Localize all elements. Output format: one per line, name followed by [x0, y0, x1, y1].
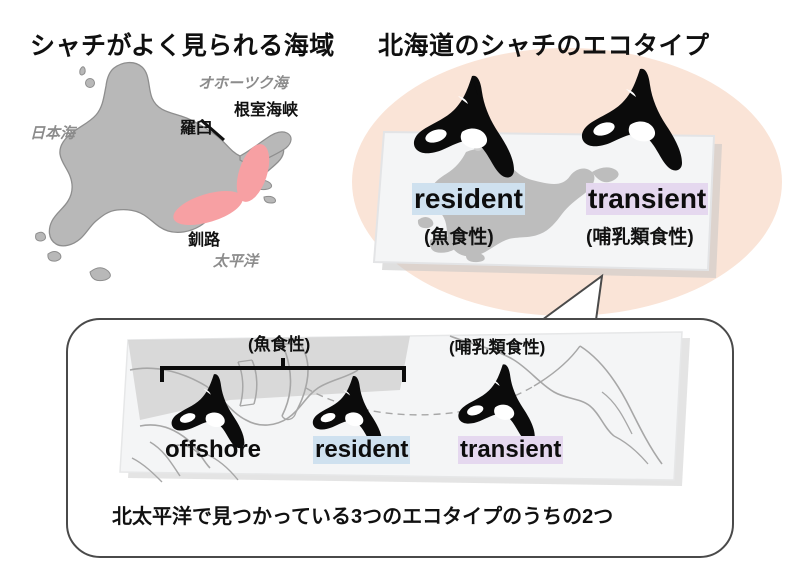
ecotype-diet-transient: (哺乳類食性) [586, 222, 694, 249]
orca-icon [410, 70, 540, 180]
ecotype-diet-resident: (魚食性) [424, 222, 494, 249]
bracket-label-mammal-eating: (哺乳類食性) [449, 333, 545, 358]
map-label-sea-of-okhotsk: オホーツク海 [198, 72, 288, 93]
map-label-pacific-ocean: 太平洋 [213, 250, 258, 271]
ecotype-label-resident-text: resident [412, 183, 525, 215]
orca-icon [578, 62, 708, 174]
map-label-sea-of-japan: 日本海 [30, 122, 75, 143]
page-title-left: シャチがよく見られる海域 [30, 26, 335, 62]
bracket-label-fish-eating: (魚食性) [248, 330, 310, 355]
ecotype-label-resident: resident [412, 183, 525, 215]
infographic-root: シャチがよく見られる海域 北海道のシャチのエコタイプ 日本海 オホーツク海 太平… [0, 0, 800, 582]
callout-caption: 北太平洋で見つかっている3つのエコタイプのうちの2つ [112, 500, 613, 529]
bottom-ecotype-label-offshore-text: offshore [163, 436, 263, 464]
map-label-nemuro-strait: 根室海峡 [234, 96, 298, 120]
bottom-ecotype-label-transient: transient [458, 436, 563, 464]
bottom-ecotype-label-offshore: offshore [163, 436, 263, 464]
map-label-rausu: 羅臼 [180, 114, 212, 138]
map-label-kushiro: 釧路 [188, 226, 220, 250]
bottom-ecotype-label-resident-text: resident [313, 436, 410, 464]
hokkaido-map [18, 58, 348, 288]
bottom-ecotype-label-resident: resident [313, 436, 410, 464]
bottom-ecotype-label-transient-text: transient [458, 436, 563, 464]
page-title-right: 北海道のシャチのエコタイプ [378, 26, 710, 62]
orca-icon [455, 360, 555, 444]
ecotype-label-transient: transient [586, 183, 708, 215]
ecotype-label-transient-text: transient [586, 183, 708, 215]
